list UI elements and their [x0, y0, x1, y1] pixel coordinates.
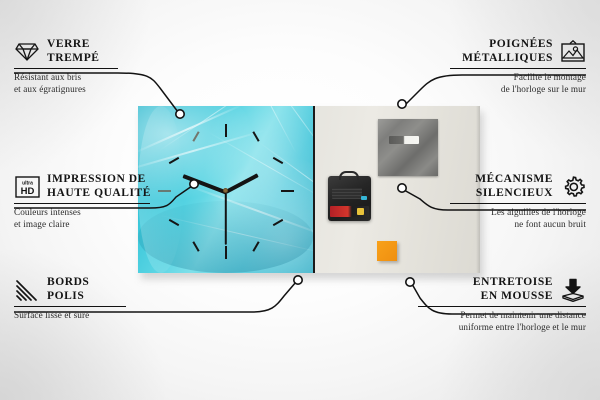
- metal-hanger-plate: [378, 119, 438, 176]
- feature-subtitle-line2: de l'horloge sur le mur: [436, 84, 586, 95]
- feature-subtitle-line1: Résistant aux bris: [14, 72, 132, 83]
- feature-poignees-metalliques[interactable]: POIGNÉES MÉTALLIQUES Facilite le montage…: [436, 38, 586, 95]
- feature-subtitle-line1: Surface lisse et sûre: [14, 310, 140, 321]
- feature-divider: [418, 306, 586, 307]
- feature-entretoise-en-mousse[interactable]: ENTRETOISE EN MOUSSE Permet de maintenir…: [406, 276, 586, 333]
- feature-title-line1: MÉCANISME: [475, 173, 553, 187]
- infographic-canvas: VERRE TREMPÉ Résistant aux bris et aux é…: [0, 0, 600, 400]
- clock-mechanism: [328, 176, 371, 221]
- foam-spacer: [377, 241, 397, 261]
- feature-divider: [14, 68, 118, 69]
- picture-frame-icon: [560, 40, 586, 64]
- gear-icon: [560, 175, 586, 199]
- product-image: [138, 106, 480, 273]
- clock-second-hand: [225, 192, 227, 245]
- svg-text:HD: HD: [20, 186, 34, 197]
- diamond-icon: [14, 40, 40, 64]
- hanger-slot: [389, 136, 419, 144]
- feature-bords-polis[interactable]: BORDS POLIS Surface lisse et sûre: [14, 276, 140, 322]
- feature-subtitle-line2: et aux égratignures: [14, 84, 132, 95]
- feature-title-line2: HAUTE QUALITÉ: [47, 187, 151, 201]
- feature-impression-haute-qualite[interactable]: ultra HD IMPRESSION DE HAUTE QUALITÉ Cou…: [14, 173, 164, 230]
- ultra-hd-icon: ultra HD: [14, 175, 40, 199]
- mechanism-indicator: [361, 196, 367, 200]
- feature-divider: [450, 68, 586, 69]
- feature-subtitle-line2: uniforme entre l'horloge et le mur: [406, 322, 586, 333]
- feature-title-line1: IMPRESSION DE: [47, 173, 151, 187]
- battery-terminal: [357, 208, 364, 215]
- feature-divider: [450, 203, 586, 204]
- clock-face-panel: [138, 106, 315, 273]
- feature-title-line2: POLIS: [47, 290, 89, 304]
- clock-tick: [225, 246, 227, 259]
- feature-subtitle-line1: Couleurs intenses: [14, 207, 164, 218]
- battery: [330, 206, 369, 217]
- feature-title-line2: SILENCIEUX: [475, 187, 553, 201]
- mechanism-bail: [339, 171, 359, 180]
- clock-tick: [225, 124, 227, 137]
- feature-divider: [14, 203, 150, 204]
- clock-center-hub: [223, 188, 228, 193]
- feature-mecanisme-silencieux[interactable]: MÉCANISME SILENCIEUX Les aiguilles de l'…: [436, 173, 586, 230]
- mechanism-label: [332, 188, 362, 199]
- arrow-onto-pad-icon: [560, 278, 586, 302]
- feature-verre-trempe[interactable]: VERRE TREMPÉ Résistant aux bris et aux é…: [14, 38, 132, 95]
- feature-subtitle-line1: Facilite le montage: [436, 72, 586, 83]
- feature-subtitle-line1: Permet de maintenir une distance: [406, 310, 586, 321]
- feature-title-line2: MÉTALLIQUES: [462, 52, 553, 66]
- feature-subtitle-line1: Les aiguilles de l'horloge: [436, 207, 586, 218]
- feature-title-line1: VERRE: [47, 38, 100, 52]
- feature-divider: [14, 306, 126, 307]
- feature-title-line1: POIGNÉES: [462, 38, 553, 52]
- feature-title-line2: EN MOUSSE: [473, 290, 553, 304]
- feature-title-line1: ENTRETOISE: [473, 276, 553, 290]
- feature-subtitle-line2: ne font aucun bruit: [436, 219, 586, 230]
- feature-title-line1: BORDS: [47, 276, 89, 290]
- feature-title-line2: TREMPÉ: [47, 52, 100, 66]
- clock-tick: [281, 190, 294, 192]
- hatch-lines-icon: [14, 278, 40, 302]
- feature-subtitle-line2: et image claire: [14, 219, 164, 230]
